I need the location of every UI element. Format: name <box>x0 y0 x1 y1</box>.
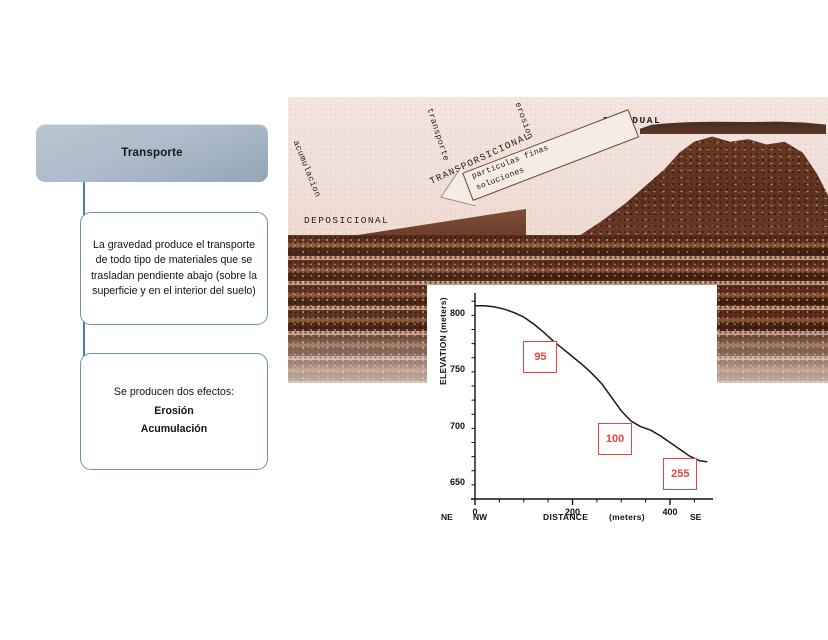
efectos-item-acumulacion: Acumulación <box>114 422 234 438</box>
diagram-node-gravedad[interactable]: La gravedad produce el transporte de tod… <box>80 212 268 325</box>
chart-annotation-box[interactable]: 95 <box>523 341 557 373</box>
chart-y-tick-label: 700 <box>437 421 465 431</box>
elevation-profile-chart: ELEVATION (meters) DISTANCE (meters) NE … <box>427 285 717 533</box>
diagram-node-efectos-text: Se producen dos efectos: Erosión Acumula… <box>105 385 243 438</box>
chart-plot-area <box>427 285 717 533</box>
chart-annotation-box[interactable]: 100 <box>598 423 632 455</box>
chart-y-tick-label: 750 <box>437 364 465 374</box>
chart-x-tick-label: 0 <box>461 507 489 517</box>
slide-canvas: Transporte La gravedad produce el transp… <box>0 0 828 640</box>
diagram-header-box[interactable]: Transporte <box>36 124 268 182</box>
chart-x-axis-units: (meters) <box>609 512 645 522</box>
diagram-header-label: Transporte <box>121 147 182 159</box>
diagram-node-gravedad-text: La gravedad produce el transporte de tod… <box>81 238 267 300</box>
chart-annotation-box[interactable]: 255 <box>663 458 697 490</box>
chart-corner-label-ne: NE <box>441 512 453 522</box>
efectos-intro: Se producen dos efectos: <box>114 386 234 398</box>
chart-x-tick-label: 400 <box>656 507 684 517</box>
chart-corner-label-se: SE <box>690 512 701 522</box>
chart-profile-line <box>475 306 707 462</box>
chart-y-tick-label: 800 <box>437 308 465 318</box>
diagram-node-efectos[interactable]: Se producen dos efectos: Erosión Acumula… <box>80 353 268 470</box>
concept-diagram: Transporte La gravedad produce el transp… <box>0 0 290 500</box>
chart-x-tick-label: 200 <box>559 507 587 517</box>
chart-y-tick-label: 650 <box>437 477 465 487</box>
chart-y-axis-title: ELEVATION <box>438 335 448 385</box>
efectos-item-erosion: Erosión <box>114 404 234 420</box>
